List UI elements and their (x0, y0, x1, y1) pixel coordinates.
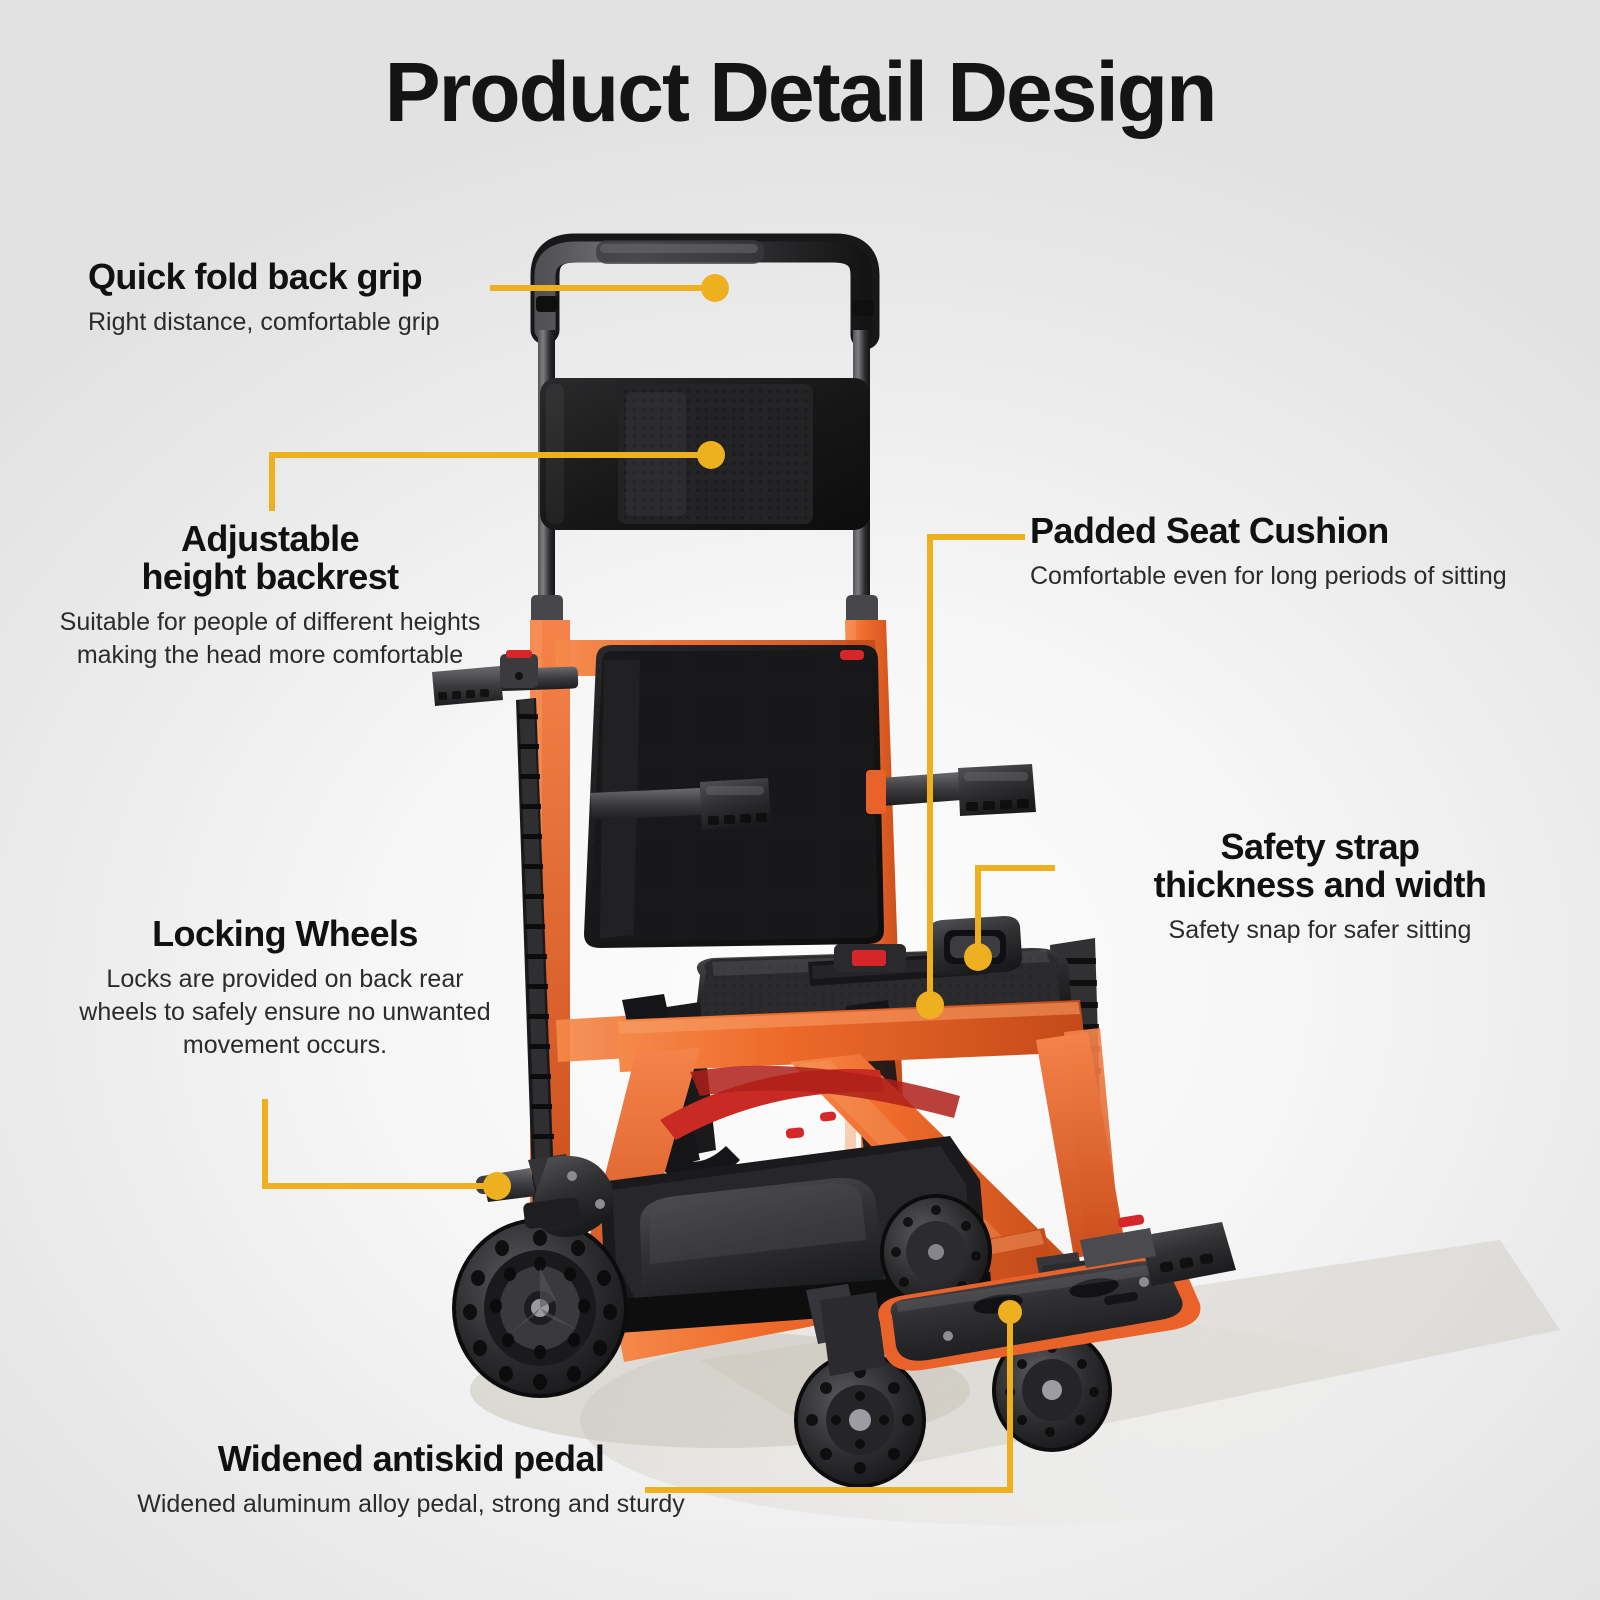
callout-padded-seat-cushion: Padded Seat Cushion Comfortable even for… (1030, 512, 1575, 593)
callout-quick-fold-back-grip: Quick fold back grip Right distance, com… (88, 258, 488, 339)
callout-desc-widened-pedal: Widened aluminum alloy pedal, strong and… (96, 1488, 726, 1521)
callout-title-grip: Quick fold back grip (88, 258, 488, 296)
push-handle-bar (536, 240, 874, 335)
callout-title-backrest: Adjustable height backrest (10, 520, 530, 596)
infographic-canvas: Product Detail Design Quick fold back gr… (0, 0, 1600, 1600)
callout-desc-seat-cushion: Comfortable even for long periods of sit… (1030, 560, 1575, 593)
callout-title-locking-wheels: Locking Wheels (60, 915, 510, 953)
callout-desc-grip: Right distance, comfortable grip (88, 306, 488, 339)
callout-safety-strap: Safety strap thickness and width Safety … (1060, 828, 1580, 947)
product-image (0, 0, 1600, 1600)
strap-buckle (928, 916, 1022, 976)
callout-title-seat-cushion: Padded Seat Cushion (1030, 512, 1575, 550)
callout-locking-wheels: Locking Wheels Locks are provided on bac… (60, 915, 510, 1062)
callout-title-widened-pedal: Widened antiskid pedal (96, 1440, 726, 1478)
callout-desc-locking-wheels: Locks are provided on back rear wheels t… (60, 963, 510, 1062)
headrest-pad (540, 378, 870, 530)
callout-title-safety-strap: Safety strap thickness and width (1060, 828, 1580, 904)
brake-lever (476, 1154, 613, 1237)
callout-desc-safety-strap: Safety snap for safer sitting (1060, 914, 1580, 947)
callout-widened-antiskid-pedal: Widened antiskid pedal Widened aluminum … (96, 1440, 726, 1521)
callout-desc-backrest: Suitable for people of different heights… (10, 606, 530, 672)
page-title: Product Detail Design (0, 48, 1600, 136)
callout-adjustable-height-backrest: Adjustable height backrest Suitable for … (10, 520, 530, 672)
rear-wheel-left (452, 1218, 628, 1398)
